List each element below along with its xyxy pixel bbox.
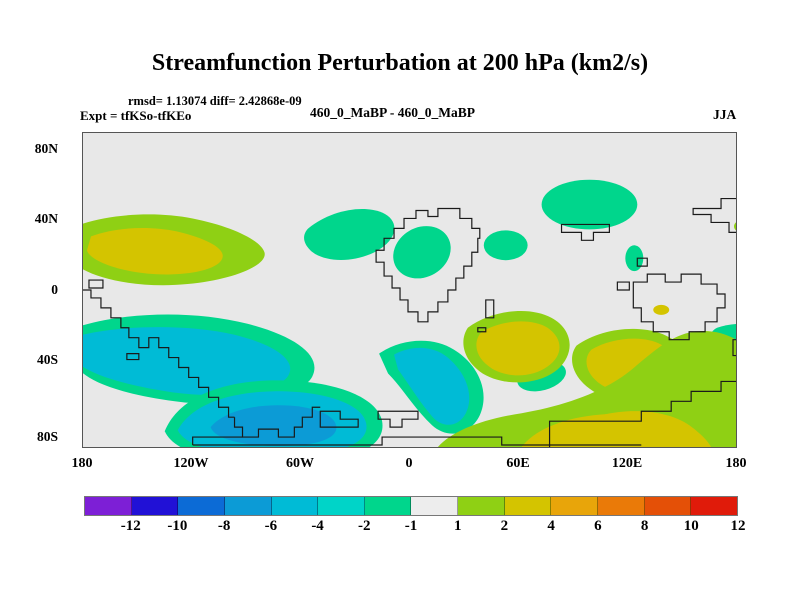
colorbar [84,496,738,516]
colorbar-tick-label-12: 12 [713,518,763,535]
colorbar-tick-label--8: -8 [199,518,249,535]
anomaly-negative-europe [384,216,461,289]
colorbar-band-9 [505,497,552,515]
page-title: Streamfunction Perturbation at 200 hPa (… [0,50,800,77]
y-axis-label-0: 0 [0,282,58,298]
anomaly-positive-atlantic [463,311,569,382]
season-label: JJA [713,107,736,123]
x-tick-120W [0,26,2,33]
colorbar-band-4 [272,497,319,515]
experiment-label: Expt = tfKSo-tfKEo [80,108,191,124]
colorbar-band-6 [365,497,412,515]
y-axis-label-80N: 80N [0,141,58,157]
colorbar-band-8 [458,497,505,515]
anomaly-positive-right-edge [720,214,736,278]
colorbar-band-12 [645,497,692,515]
colorbar-band-13 [691,497,737,515]
anomaly-negative-equatorial-spot [484,230,528,260]
x-axis-label-60E: 60E [478,456,558,472]
contour-field [83,133,736,447]
colorbar-tick-label--10: -10 [152,518,202,535]
colorbar-tick-label-6: 6 [573,518,623,535]
x-axis-label-120W: 120W [151,456,231,472]
y-axis-label-40N: 40N [0,211,58,227]
anomaly-negative-small-spot [194,350,208,358]
y-axis-label-40S: 40S [0,352,58,368]
colorbar-tick-label--1: -1 [386,518,436,535]
colorbar-tick-label-8: 8 [620,518,670,535]
colorbar-band-11 [598,497,645,515]
colorbar-tick-label-4: 4 [526,518,576,535]
case-comparison-label: 460_0_MaBP - 460_0_MaBP [310,105,475,121]
x-axis-label-180E: 180 [696,456,776,472]
x-tick-180E [0,86,2,93]
colorbar-tick-label--6: -6 [246,518,296,535]
colorbar-band-10 [551,497,598,515]
colorbar-band-1 [132,497,179,515]
colorbar-tick-label-10: 10 [666,518,716,535]
colorbar-tick-label--4: -4 [293,518,343,535]
x-axis-label-120E: 120E [587,456,667,472]
x-axis-label-180W: 180 [42,456,122,472]
colorbar-tick-label--12: -12 [106,518,156,535]
colorbar-band-7 [411,497,458,515]
y-axis-label-80S: 80S [0,429,58,445]
colorbar-band-0 [85,497,132,515]
x-axis-label-60W: 60W [260,456,340,472]
colorbar-band-3 [225,497,272,515]
colorbar-tick-label-2: 2 [479,518,529,535]
contour-map-panel [82,132,737,448]
anomaly-negative-north-pacific [542,180,638,230]
colorbar-band-5 [318,497,365,515]
colorbar-tick-label-1: 1 [433,518,483,535]
colorbar-band-2 [178,497,225,515]
x-tick-180W [0,14,2,21]
rmsd-statistics-label: rmsd= 1.13074 diff= 2.42868e-09 [128,94,302,109]
colorbar-tick-label--2: -2 [339,518,389,535]
anomaly-positive-northeast-pacific [83,214,265,285]
x-axis-label-0: 0 [369,456,449,472]
x-tick-60W [0,38,2,45]
anomaly-negative-north-atlantic [304,209,394,260]
